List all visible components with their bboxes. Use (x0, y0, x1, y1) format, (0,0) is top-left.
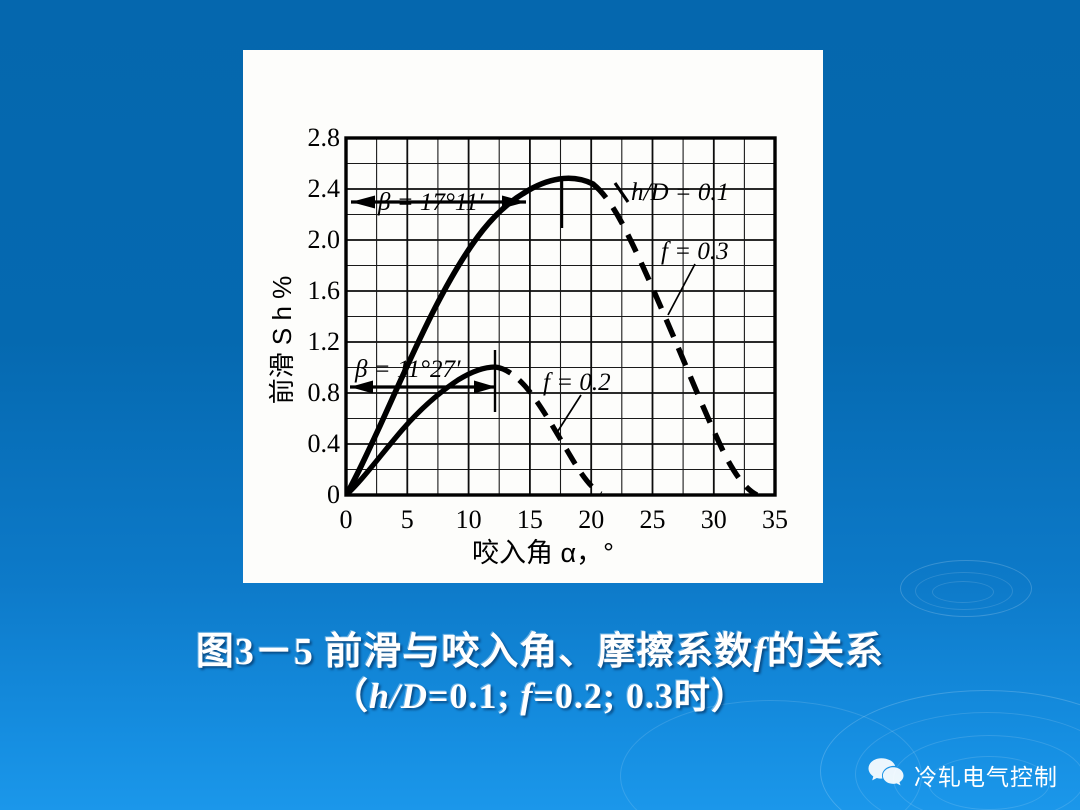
y-tick-label: 1.2 (308, 327, 341, 356)
annotation-beta-17-label: β = 17°11′ (377, 189, 484, 216)
x-tick-label: 5 (401, 505, 414, 534)
y-tick-label: 0.4 (308, 429, 341, 458)
annotation-f02-label: f = 0.2 (543, 369, 611, 396)
x-tick-label: 35 (762, 505, 788, 534)
x-tick-label: 25 (640, 505, 666, 534)
x-tick-label: 30 (701, 505, 727, 534)
caption-line-2: （h/D=0.1; f=0.2; 0.3时） (0, 675, 1080, 717)
curve-f03-crest (524, 178, 593, 193)
annotation-f03-label: f = 0.3 (661, 238, 729, 265)
y-tick-label: 1.6 (308, 276, 341, 305)
x-axis-title: 咬入角 α，° (472, 538, 614, 568)
y-tick-label: 2.0 (308, 225, 341, 254)
x-tick-label: 20 (578, 505, 604, 534)
annotation-hd: h/D = 0.1 (615, 179, 729, 206)
y-tick-label: 2.8 (308, 123, 341, 152)
annotation-beta-11-label: β = 11°27′ (354, 356, 461, 383)
ripple-decoration (932, 581, 994, 603)
y-axis-title: 前滑 S h % (267, 276, 297, 405)
caption-line2-hd-value: =0.1; (428, 676, 521, 716)
caption-line1-italic-f: f (753, 631, 767, 673)
y-axis-tick-labels: 2.8 2.4 2.0 1.6 1.2 0.8 0.4 0 (308, 123, 341, 509)
caption-line1-suffix: 的关系 (767, 631, 884, 673)
x-tick-label: 0 (340, 505, 353, 534)
caption-line2-hd: h/D (369, 676, 428, 716)
ripple-decoration (915, 572, 1013, 610)
slide-background: β = 17°11′ β = 11°27′ h/D = 0.1 (0, 0, 1080, 810)
watermark-text: 冷轧电气控制 (914, 758, 1058, 792)
caption-line2-close: ） (711, 676, 748, 716)
curve-f03-falling (593, 184, 757, 495)
x-axis-tick-labels: 0 5 10 15 20 25 30 35 (340, 505, 789, 534)
figure-caption: 图3－5 前滑与咬入角、摩擦系数f的关系 （h/D=0.1; f=0.2; 0.… (0, 630, 1080, 717)
wechat-icon (867, 757, 905, 792)
caption-line-1: 图3－5 前滑与咬入角、摩擦系数f的关系 (0, 630, 1080, 675)
annotation-hd-label: h/D = 0.1 (631, 179, 729, 206)
annotation-f02: f = 0.2 (543, 369, 611, 434)
caption-line2-open: （ (332, 676, 369, 716)
chart-svg: β = 17°11′ β = 11°27′ h/D = 0.1 (243, 50, 823, 583)
caption-line1-prefix: 图3－5 前滑与咬入角、摩擦系数 (196, 631, 754, 673)
caption-line2-f-value: =0.2; 0.3时 (534, 676, 712, 716)
y-tick-label: 2.4 (308, 174, 341, 203)
caption-line2-f: f (521, 676, 534, 716)
x-tick-label: 15 (517, 505, 543, 534)
x-tick-label: 10 (456, 505, 482, 534)
chart: β = 17°11′ β = 11°27′ h/D = 0.1 (243, 50, 823, 583)
watermark: 冷轧电气控制 (867, 757, 1058, 792)
annotation-f03: f = 0.3 (661, 238, 729, 315)
y-tick-label: 0.8 (308, 378, 341, 407)
y-tick-label: 0 (327, 480, 340, 509)
curve-f03-rising (346, 193, 524, 495)
annotation-beta-11: β = 11°27′ (350, 350, 496, 412)
ripple-decoration (900, 560, 1032, 617)
figure-panel: β = 17°11′ β = 11°27′ h/D = 0.1 (243, 50, 823, 583)
